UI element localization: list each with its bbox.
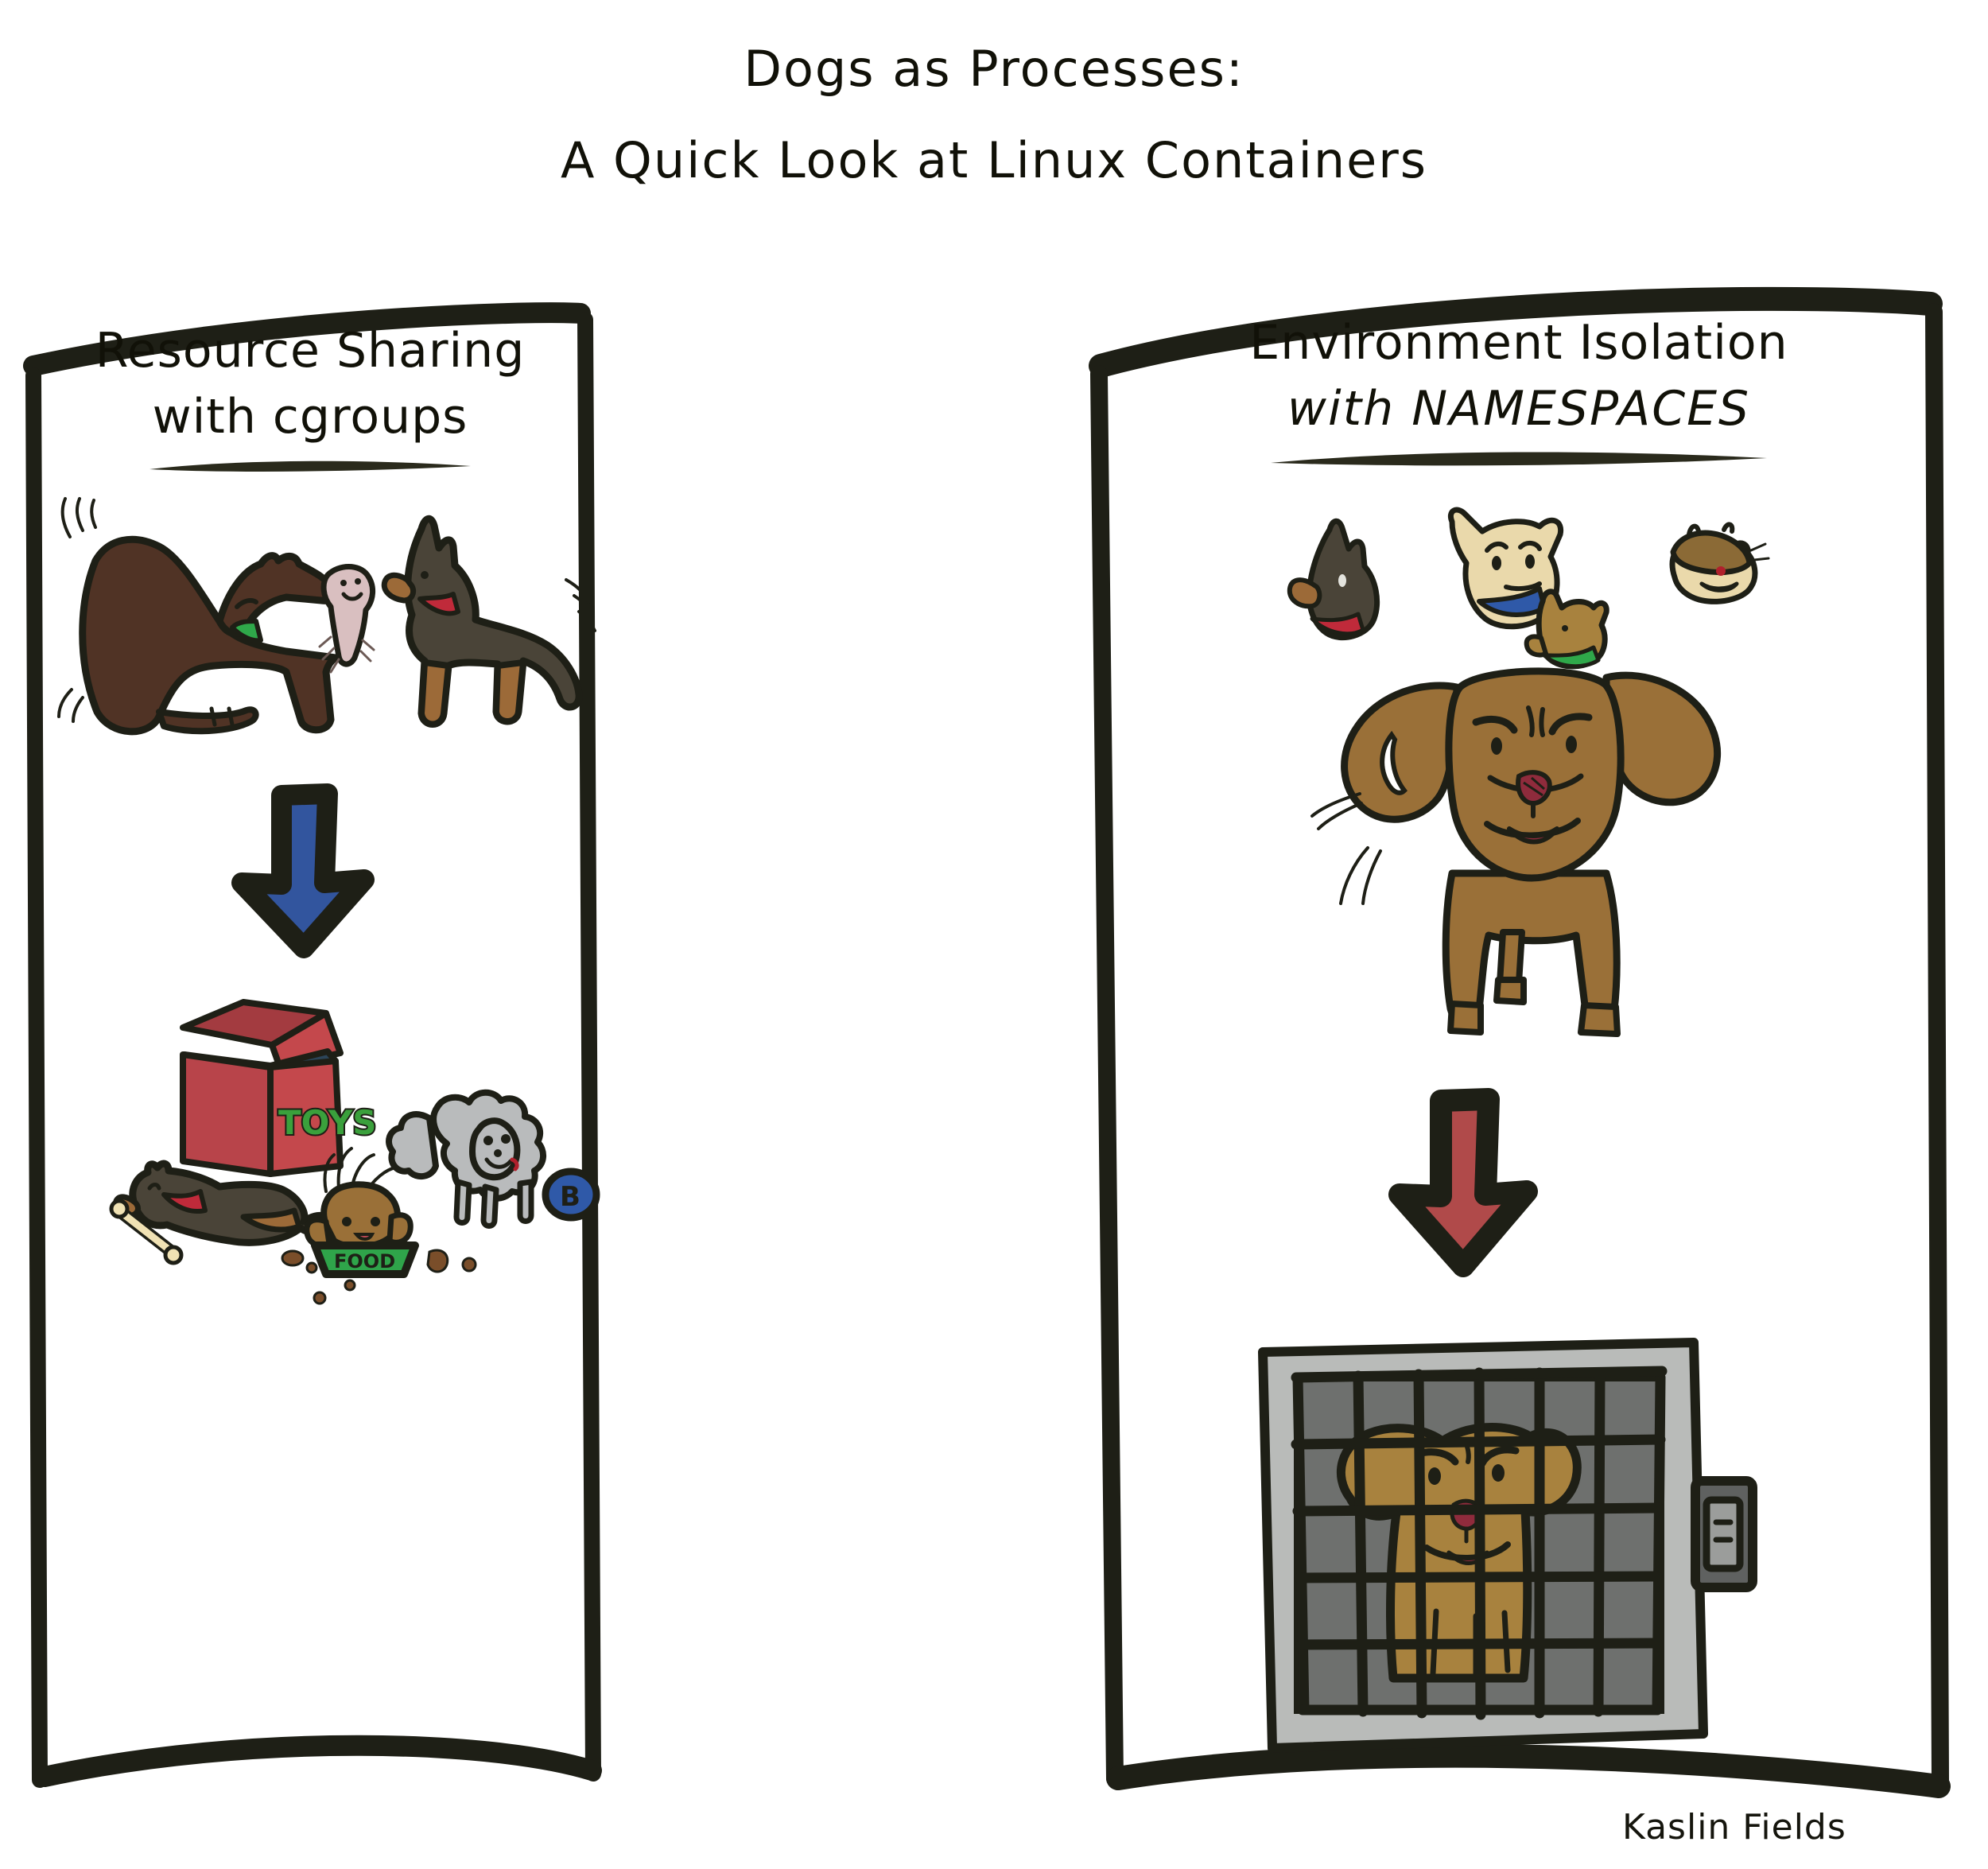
title-line-1: Dogs as Processes: — [0, 40, 1988, 98]
panel-namespaces: Environment Isolation with NAMESPACES — [1066, 270, 1972, 1821]
poodle — [389, 1093, 543, 1226]
shared-resources-scene: TOYS — [87, 978, 612, 1360]
heading-line-2: with cgroups — [16, 384, 604, 450]
doberman — [384, 519, 579, 724]
motion-lines-right — [566, 580, 595, 631]
toybox-label: TOYS — [278, 1103, 377, 1142]
scruffy-dog-head — [1672, 524, 1769, 601]
comic-canvas: Dogs as Processes: A Quick Look at Linux… — [0, 0, 1988, 1869]
crate-scene — [1248, 1328, 1773, 1774]
tug-of-war-scene — [48, 481, 604, 744]
heading-line-1: Environment Isolation — [1113, 310, 1924, 376]
down-arrow-red — [1380, 1090, 1547, 1280]
foodbowl-label: FOOD — [334, 1250, 395, 1273]
artist-signature: Kaslin Fields — [1622, 1807, 1846, 1848]
angry-brown-dog — [1312, 671, 1718, 1034]
comic-title: Dogs as Processes: A Quick Look at Linux… — [0, 40, 1988, 189]
panel-cgroups: Resource Sharing with cgroups — [16, 278, 970, 1813]
door-latch — [1695, 1481, 1753, 1587]
heading-line-2: with NAMESPACES — [1113, 376, 1924, 442]
doberman-head — [1290, 521, 1377, 637]
panel-heading-cgroups: Resource Sharing with cgroups — [16, 318, 604, 476]
heading-underline — [1264, 447, 1773, 468]
ball-label: B — [560, 1181, 580, 1213]
heading-underline — [143, 455, 477, 476]
blue-ball: B — [546, 1172, 596, 1218]
angry-dog-scene — [1304, 652, 1781, 1058]
chocolate-lab — [83, 539, 336, 732]
toy-box: TOYS — [183, 1002, 377, 1174]
title-line-2: A Quick Look at Linux Containers — [0, 131, 1988, 189]
panel-heading-namespaces: Environment Isolation with NAMESPACES — [1113, 310, 1924, 468]
heading-line-1: Resource Sharing — [16, 318, 604, 384]
down-arrow-blue — [224, 784, 383, 959]
